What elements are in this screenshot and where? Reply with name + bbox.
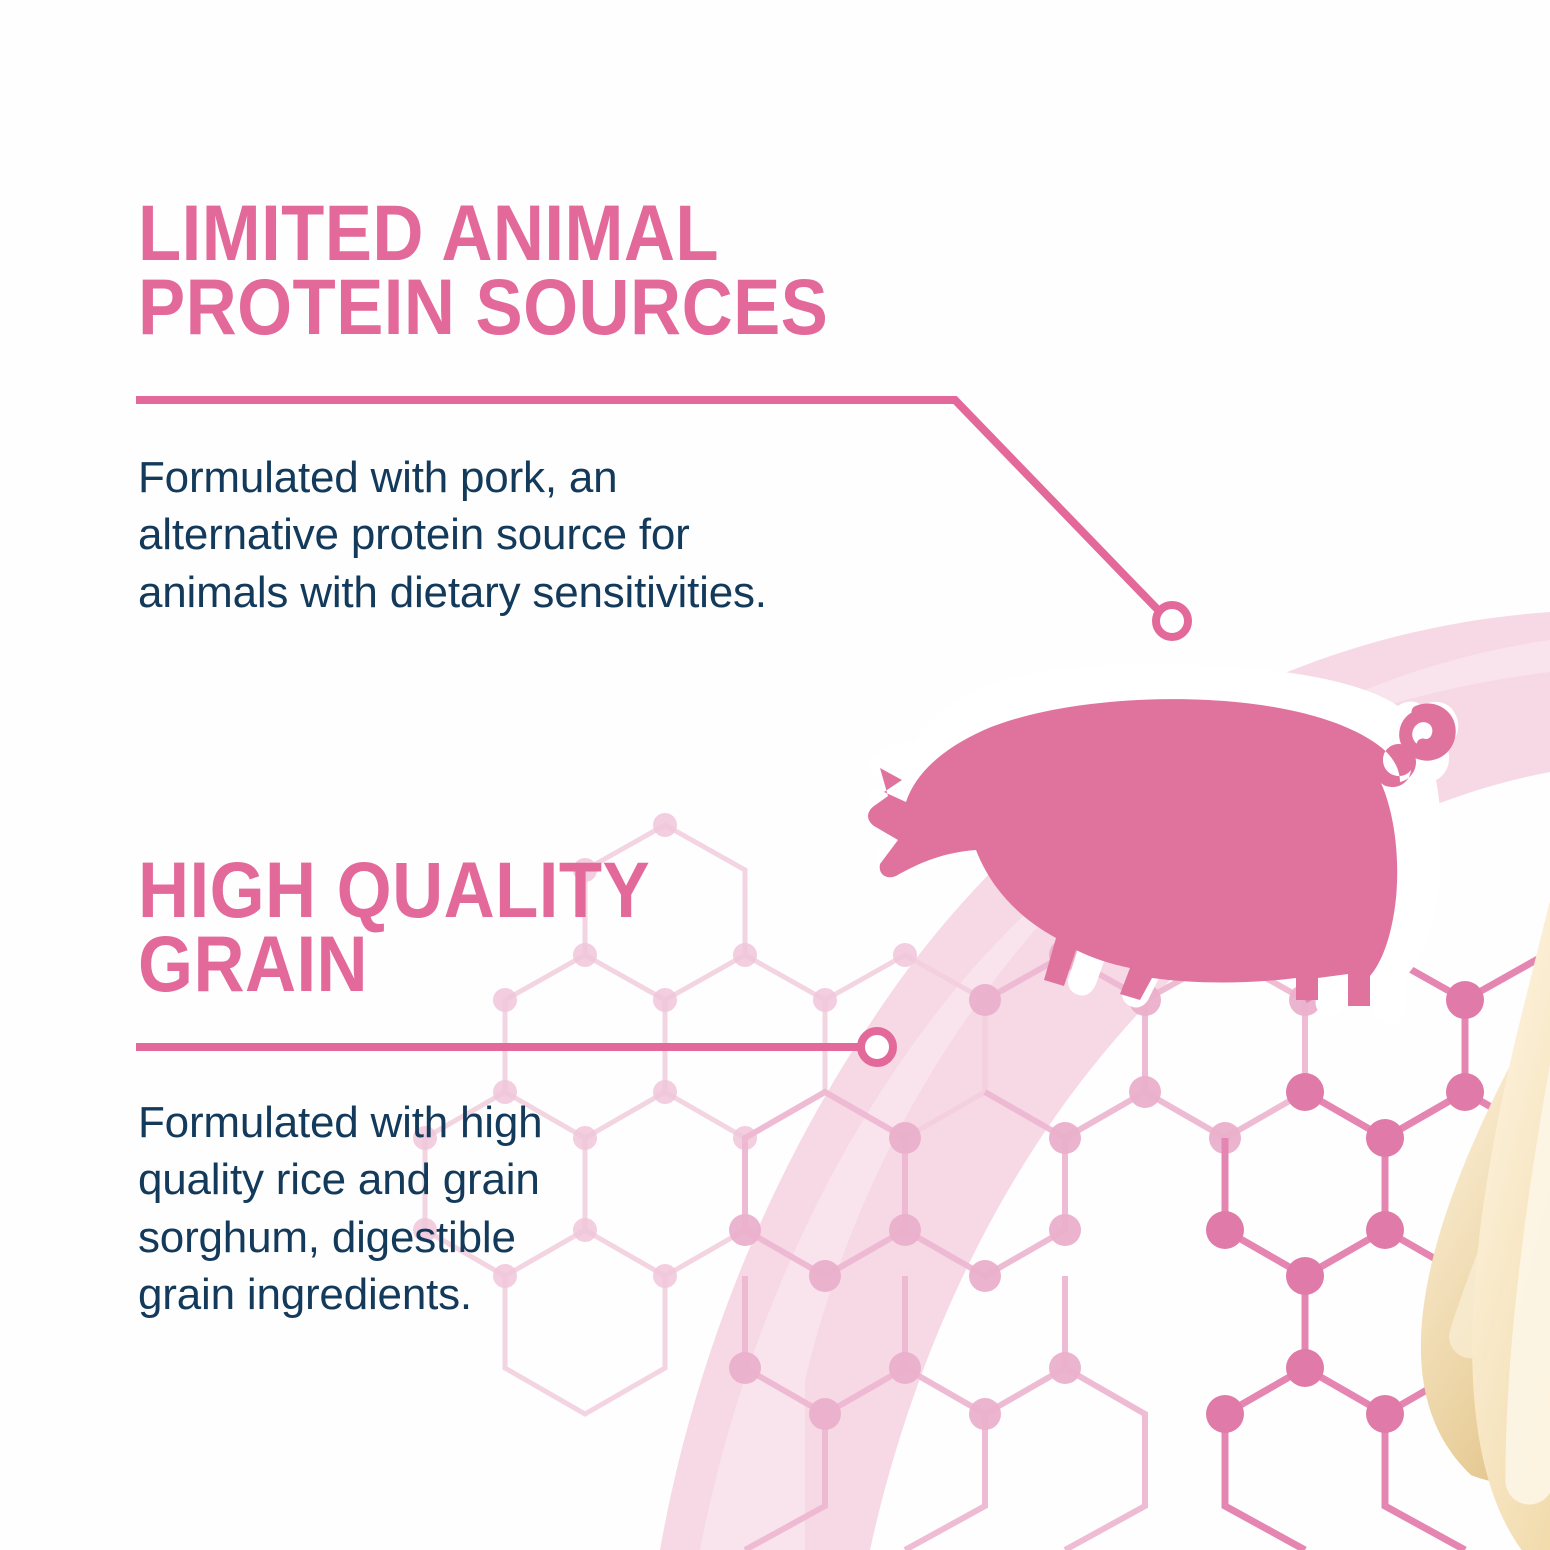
heading-limited-animal-protein: LIMITED ANIMAL PROTEIN SOURCES [138,196,828,344]
section-limited-animal-protein: LIMITED ANIMAL PROTEIN SOURCES Formulate… [138,196,909,344]
grain-callout-endpoint [140,1031,893,1063]
section-high-quality-grain: HIGH QUALITY GRAIN Formulated with high … [138,853,710,1001]
body-high-quality-grain: Formulated with high quality rice and gr… [138,1094,542,1324]
rice-grain-kernels [930,0,1550,1550]
heading-high-quality-grain: HIGH QUALITY GRAIN [138,853,650,1001]
body-limited-animal-protein: Formulated with pork, an alternative pro… [138,449,767,621]
pig-silhouette [865,664,1458,1024]
infographic-canvas: LIMITED ANIMAL PROTEIN SOURCES Formulate… [0,0,1550,1550]
pink-arc-band [660,612,1550,1550]
